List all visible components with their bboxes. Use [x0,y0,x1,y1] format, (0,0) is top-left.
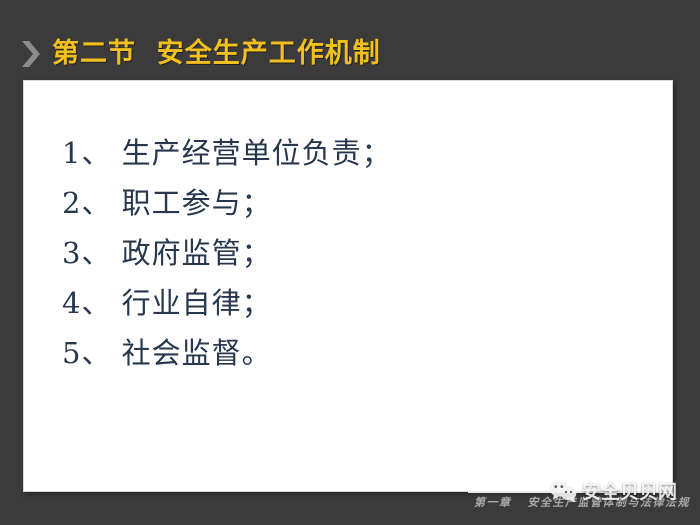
list-item: 1、 生产经营单位负责； [62,128,652,178]
list-item: 3、 政府监管； [62,228,652,278]
watermark-label: 安全贝贝网 [582,477,677,504]
chevron-double-right-icon [22,39,44,69]
list-item: 4、 行业自律； [62,278,652,328]
list-item: 5、 社会监督。 [62,328,652,378]
slide-header: 第二节 安全生产工作机制 [22,34,381,74]
page-title: 第二节 安全生产工作机制 [52,38,381,70]
content-panel: 1、 生产经营单位负责； 2、 职工参与； 3、 政府监管； 4、 行业自律； … [23,80,673,492]
watermark: 安全贝贝网 [549,477,677,504]
slide-canvas: 第二节 安全生产工作机制 1、 生产经营单位负责； 2、 职工参与； 3、 政府… [0,0,700,525]
list-item: 2、 职工参与； [62,178,652,228]
wechat-icon [549,479,577,503]
bullet-list: 1、 生产经营单位负责； 2、 职工参与； 3、 政府监管； 4、 行业自律； … [62,128,652,378]
